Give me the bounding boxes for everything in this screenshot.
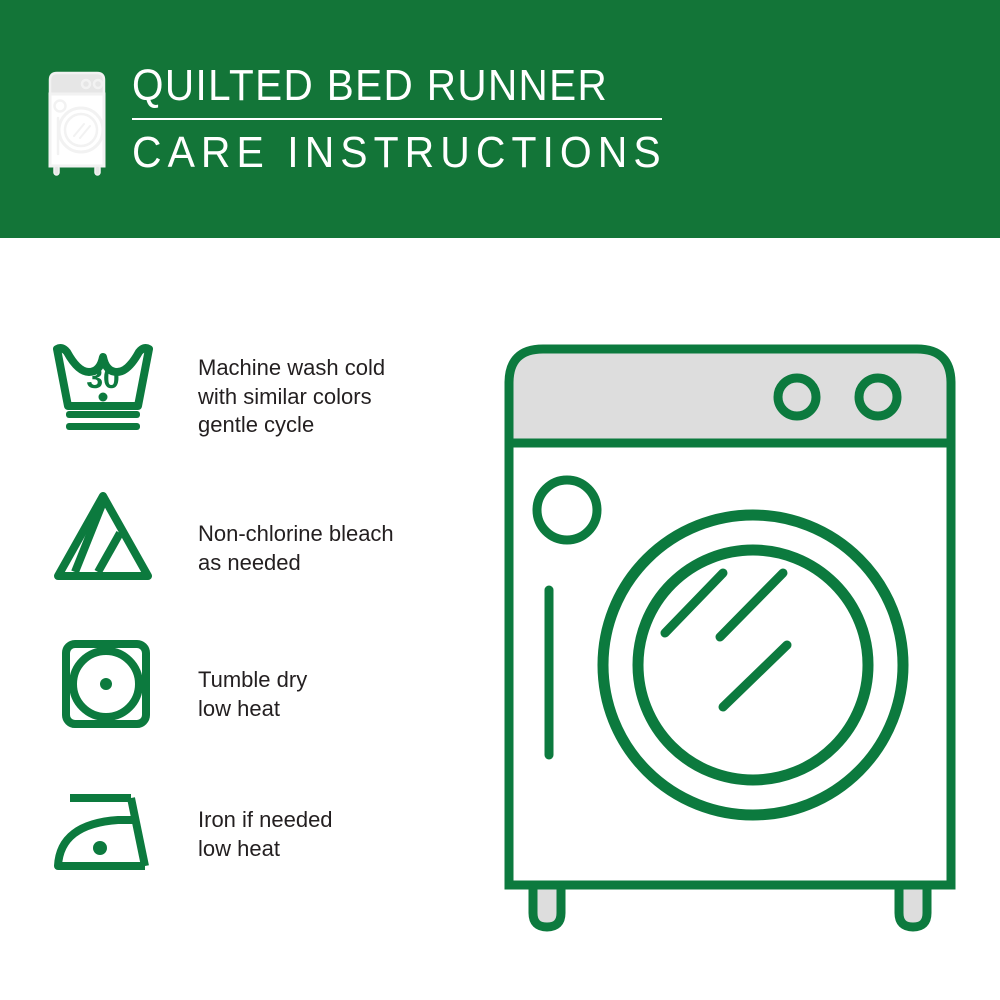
- washer-control-panel: [509, 349, 951, 443]
- care-row-machine-wash: 30 Machine wash cold with similar colors…: [48, 340, 448, 488]
- svg-text:30: 30: [86, 362, 119, 395]
- care-text-bleach: Non-chlorine bleach as needed: [198, 488, 394, 577]
- washer-leg-left: [533, 885, 561, 927]
- front-load-washing-machine-illustration: [495, 335, 965, 935]
- care-text-tumble-dry: Tumble dry low heat: [198, 636, 307, 723]
- header-content: QUILTED BED RUNNER CARE INSTRUCTIONS: [42, 62, 707, 178]
- care-instructions-infographic: QUILTED BED RUNNER CARE INSTRUCTIONS 30: [0, 0, 1000, 1000]
- page-subtitle: CARE INSTRUCTIONS: [132, 129, 667, 177]
- care-row-tumble-dry: Tumble dry low heat: [48, 636, 448, 784]
- title-divider: [132, 118, 662, 120]
- washer-leg-right: [899, 885, 927, 927]
- header-title-block: QUILTED BED RUNNER CARE INSTRUCTIONS: [132, 62, 707, 177]
- iron-low-heat-icon: [48, 784, 158, 880]
- care-row-bleach: Non-chlorine bleach as needed: [48, 488, 448, 636]
- washing-machine-icon: [42, 66, 112, 178]
- care-symbol-slot: 30: [48, 340, 166, 436]
- care-instruction-list: 30 Machine wash cold with similar colors…: [48, 340, 448, 932]
- non-chlorine-bleach-triangle-icon: [48, 488, 158, 584]
- care-symbol-slot: [48, 636, 166, 732]
- care-text-machine-wash: Machine wash cold with similar colors ge…: [198, 340, 385, 440]
- header-banner: QUILTED BED RUNNER CARE INSTRUCTIONS: [0, 0, 1000, 238]
- tumble-dry-low-icon: [48, 636, 158, 732]
- wash-tub-30-gentle-icon: 30: [48, 340, 158, 436]
- care-symbol-slot: [48, 488, 166, 584]
- care-row-iron: Iron if needed low heat: [48, 784, 448, 932]
- care-symbol-slot: [48, 784, 166, 880]
- care-text-iron: Iron if needed low heat: [198, 784, 333, 863]
- page-title: QUILTED BED RUNNER: [132, 62, 661, 110]
